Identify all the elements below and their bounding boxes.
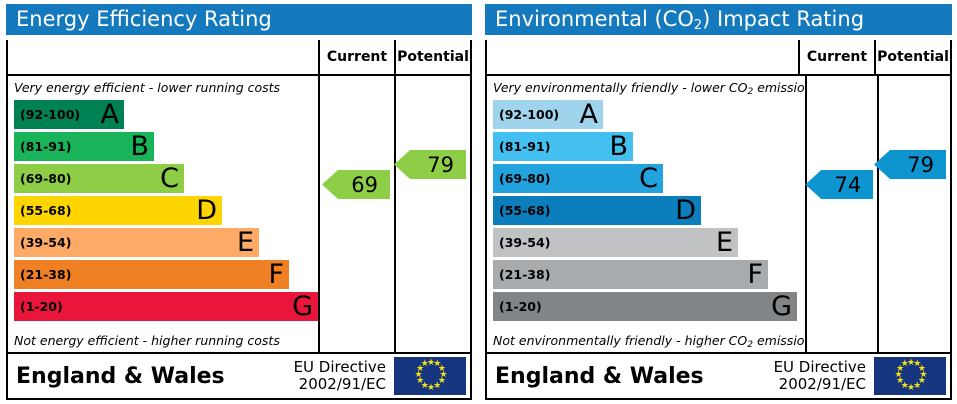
band-bar-d: (55-68)D: [493, 196, 701, 225]
panel-title-co2-prefix: Environmental (CO: [495, 7, 694, 31]
caption-bottom-energy: Not energy efficient - higher running co…: [8, 330, 318, 352]
band-bar-g: (1-20)G: [14, 292, 318, 321]
band-range-b: (81-91): [14, 139, 71, 154]
band-bar-a: (92-100)A: [14, 100, 124, 129]
band-bar-e: (39-54)E: [14, 228, 259, 257]
band-letter-b: B: [609, 132, 628, 159]
band-bar-e: (39-54)E: [493, 228, 738, 257]
table-header-row-co2: Current Potential: [487, 40, 950, 76]
potential-rating-arrow: 79: [874, 150, 946, 179]
band-letter-c: C: [160, 164, 179, 191]
directive-line-2-co2: 2002/91/EC: [774, 376, 866, 393]
panel-co2-impact: Environmental (CO2) Impact Rating Curren…: [479, 0, 957, 404]
band-chart-co2: Very environmentally friendly - lower CO…: [487, 76, 805, 352]
band-range-e: (39-54): [493, 235, 550, 250]
panel-title-energy: Energy Efficiency Rating: [6, 4, 472, 35]
band-chart-energy: Very energy efficient - lower running co…: [8, 76, 318, 352]
band-range-g: (1-20): [14, 299, 63, 314]
band-range-d: (55-68): [14, 203, 71, 218]
eu-flag-icon: ★★★★★★★★★★★★: [394, 357, 466, 395]
band-letter-f: F: [268, 260, 284, 287]
eu-flag-icon: ★★★★★★★★★★★★: [874, 357, 946, 395]
caption-bottom-co2: Not environmentally friendly - higher CO…: [487, 330, 805, 352]
current-rating-arrow: 69: [322, 170, 390, 199]
epc-rating-graphs: Energy Efficiency Rating Current Potenti…: [0, 0, 957, 404]
caption-top-energy: Very energy efficient - lower running co…: [8, 76, 318, 98]
band-range-a: (92-100): [14, 107, 80, 122]
current-rating-column-energy: 69: [318, 76, 394, 352]
band-bar-c: (69-80)C: [493, 164, 663, 193]
potential-rating-column-co2: 79: [877, 76, 950, 352]
band-bar-d: (55-68)D: [14, 196, 222, 225]
column-header-potential-energy: Potential: [394, 40, 470, 74]
footer-directive-energy: EU Directive 2002/91/EC: [294, 359, 394, 393]
band-bar-f: (21-38)F: [14, 260, 289, 289]
band-range-b: (81-91): [493, 139, 550, 154]
band-bar-f: (21-38)F: [493, 260, 768, 289]
band-letter-b: B: [130, 132, 149, 159]
potential-rating-column-energy: 79: [394, 76, 470, 352]
caption-top-co2-suffix: emissions: [753, 80, 804, 95]
caption-top-co2: Very environmentally friendly - lower CO…: [487, 76, 805, 98]
footer-region-energy: England & Wales: [16, 364, 294, 389]
band-letter-e: E: [237, 228, 254, 255]
current-rating-column-co2: 74: [805, 76, 878, 352]
band-range-g: (1-20): [493, 299, 542, 314]
band-range-e: (39-54): [14, 235, 71, 250]
panel-title-co2-subscript: 2: [694, 18, 702, 33]
band-bar-b: (81-91)B: [493, 132, 633, 161]
caption-top-co2-subscript: 2: [747, 87, 753, 97]
caption-bottom-co2-subscript: 2: [747, 340, 753, 350]
panel-title-co2: Environmental (CO2) Impact Rating: [485, 4, 952, 35]
current-rating-arrow: 74: [805, 170, 873, 199]
table-header-row-energy: Current Potential: [8, 40, 470, 76]
band-range-a: (92-100): [493, 107, 559, 122]
band-letter-a: A: [101, 100, 119, 127]
band-range-c: (69-80): [14, 171, 71, 186]
band-letter-g: G: [292, 292, 313, 319]
band-bars-energy: (92-100)A(81-91)B(69-80)C(55-68)D(39-54)…: [8, 98, 318, 330]
panel-title-co2-suffix: ) Impact Rating: [702, 7, 864, 31]
potential-rating-arrow: 79: [394, 150, 466, 179]
table-body-row-energy: Very energy efficient - lower running co…: [8, 76, 470, 354]
directive-line-2-energy: 2002/91/EC: [294, 376, 386, 393]
band-bar-b: (81-91)B: [14, 132, 154, 161]
column-header-current-energy: Current: [318, 40, 394, 74]
footer-energy: England & Wales EU Directive 2002/91/EC …: [8, 354, 470, 398]
band-letter-d: D: [675, 196, 696, 223]
directive-line-1-co2: EU Directive: [774, 359, 866, 376]
caption-top-co2-prefix: Very environmentally friendly - lower CO: [493, 80, 747, 95]
band-range-c: (69-80): [493, 171, 550, 186]
band-letter-e: E: [716, 228, 733, 255]
band-letter-g: G: [771, 292, 792, 319]
band-bar-a: (92-100)A: [493, 100, 603, 129]
table-body-row-co2: Very environmentally friendly - lower CO…: [487, 76, 950, 354]
band-range-f: (21-38): [14, 267, 71, 282]
band-bar-g: (1-20)G: [493, 292, 797, 321]
footer-directive-co2: EU Directive 2002/91/EC: [774, 359, 874, 393]
column-header-potential-co2: Potential: [874, 40, 950, 74]
band-letter-d: D: [196, 196, 217, 223]
panel-energy-efficiency: Energy Efficiency Rating Current Potenti…: [0, 0, 478, 404]
band-range-f: (21-38): [493, 267, 550, 282]
band-letter-c: C: [639, 164, 658, 191]
footer-co2: England & Wales EU Directive 2002/91/EC …: [487, 354, 950, 398]
band-bar-c: (69-80)C: [14, 164, 184, 193]
band-letter-a: A: [580, 100, 598, 127]
rating-table-energy: Current Potential Very energy efficient …: [6, 40, 472, 400]
caption-bottom-co2-suffix: emissions: [753, 333, 805, 348]
header-blank-cell-co2: [487, 40, 798, 74]
band-bars-co2: (92-100)A(81-91)B(69-80)C(55-68)D(39-54)…: [487, 98, 805, 330]
column-header-current-co2: Current: [798, 40, 874, 74]
band-range-d: (55-68): [493, 203, 550, 218]
directive-line-1-energy: EU Directive: [294, 359, 386, 376]
rating-table-co2: Current Potential Very environmentally f…: [485, 40, 952, 400]
footer-region-co2: England & Wales: [495, 364, 774, 389]
caption-bottom-co2-prefix: Not environmentally friendly - higher CO: [493, 333, 747, 348]
header-blank-cell-energy: [8, 40, 318, 74]
band-letter-f: F: [747, 260, 763, 287]
